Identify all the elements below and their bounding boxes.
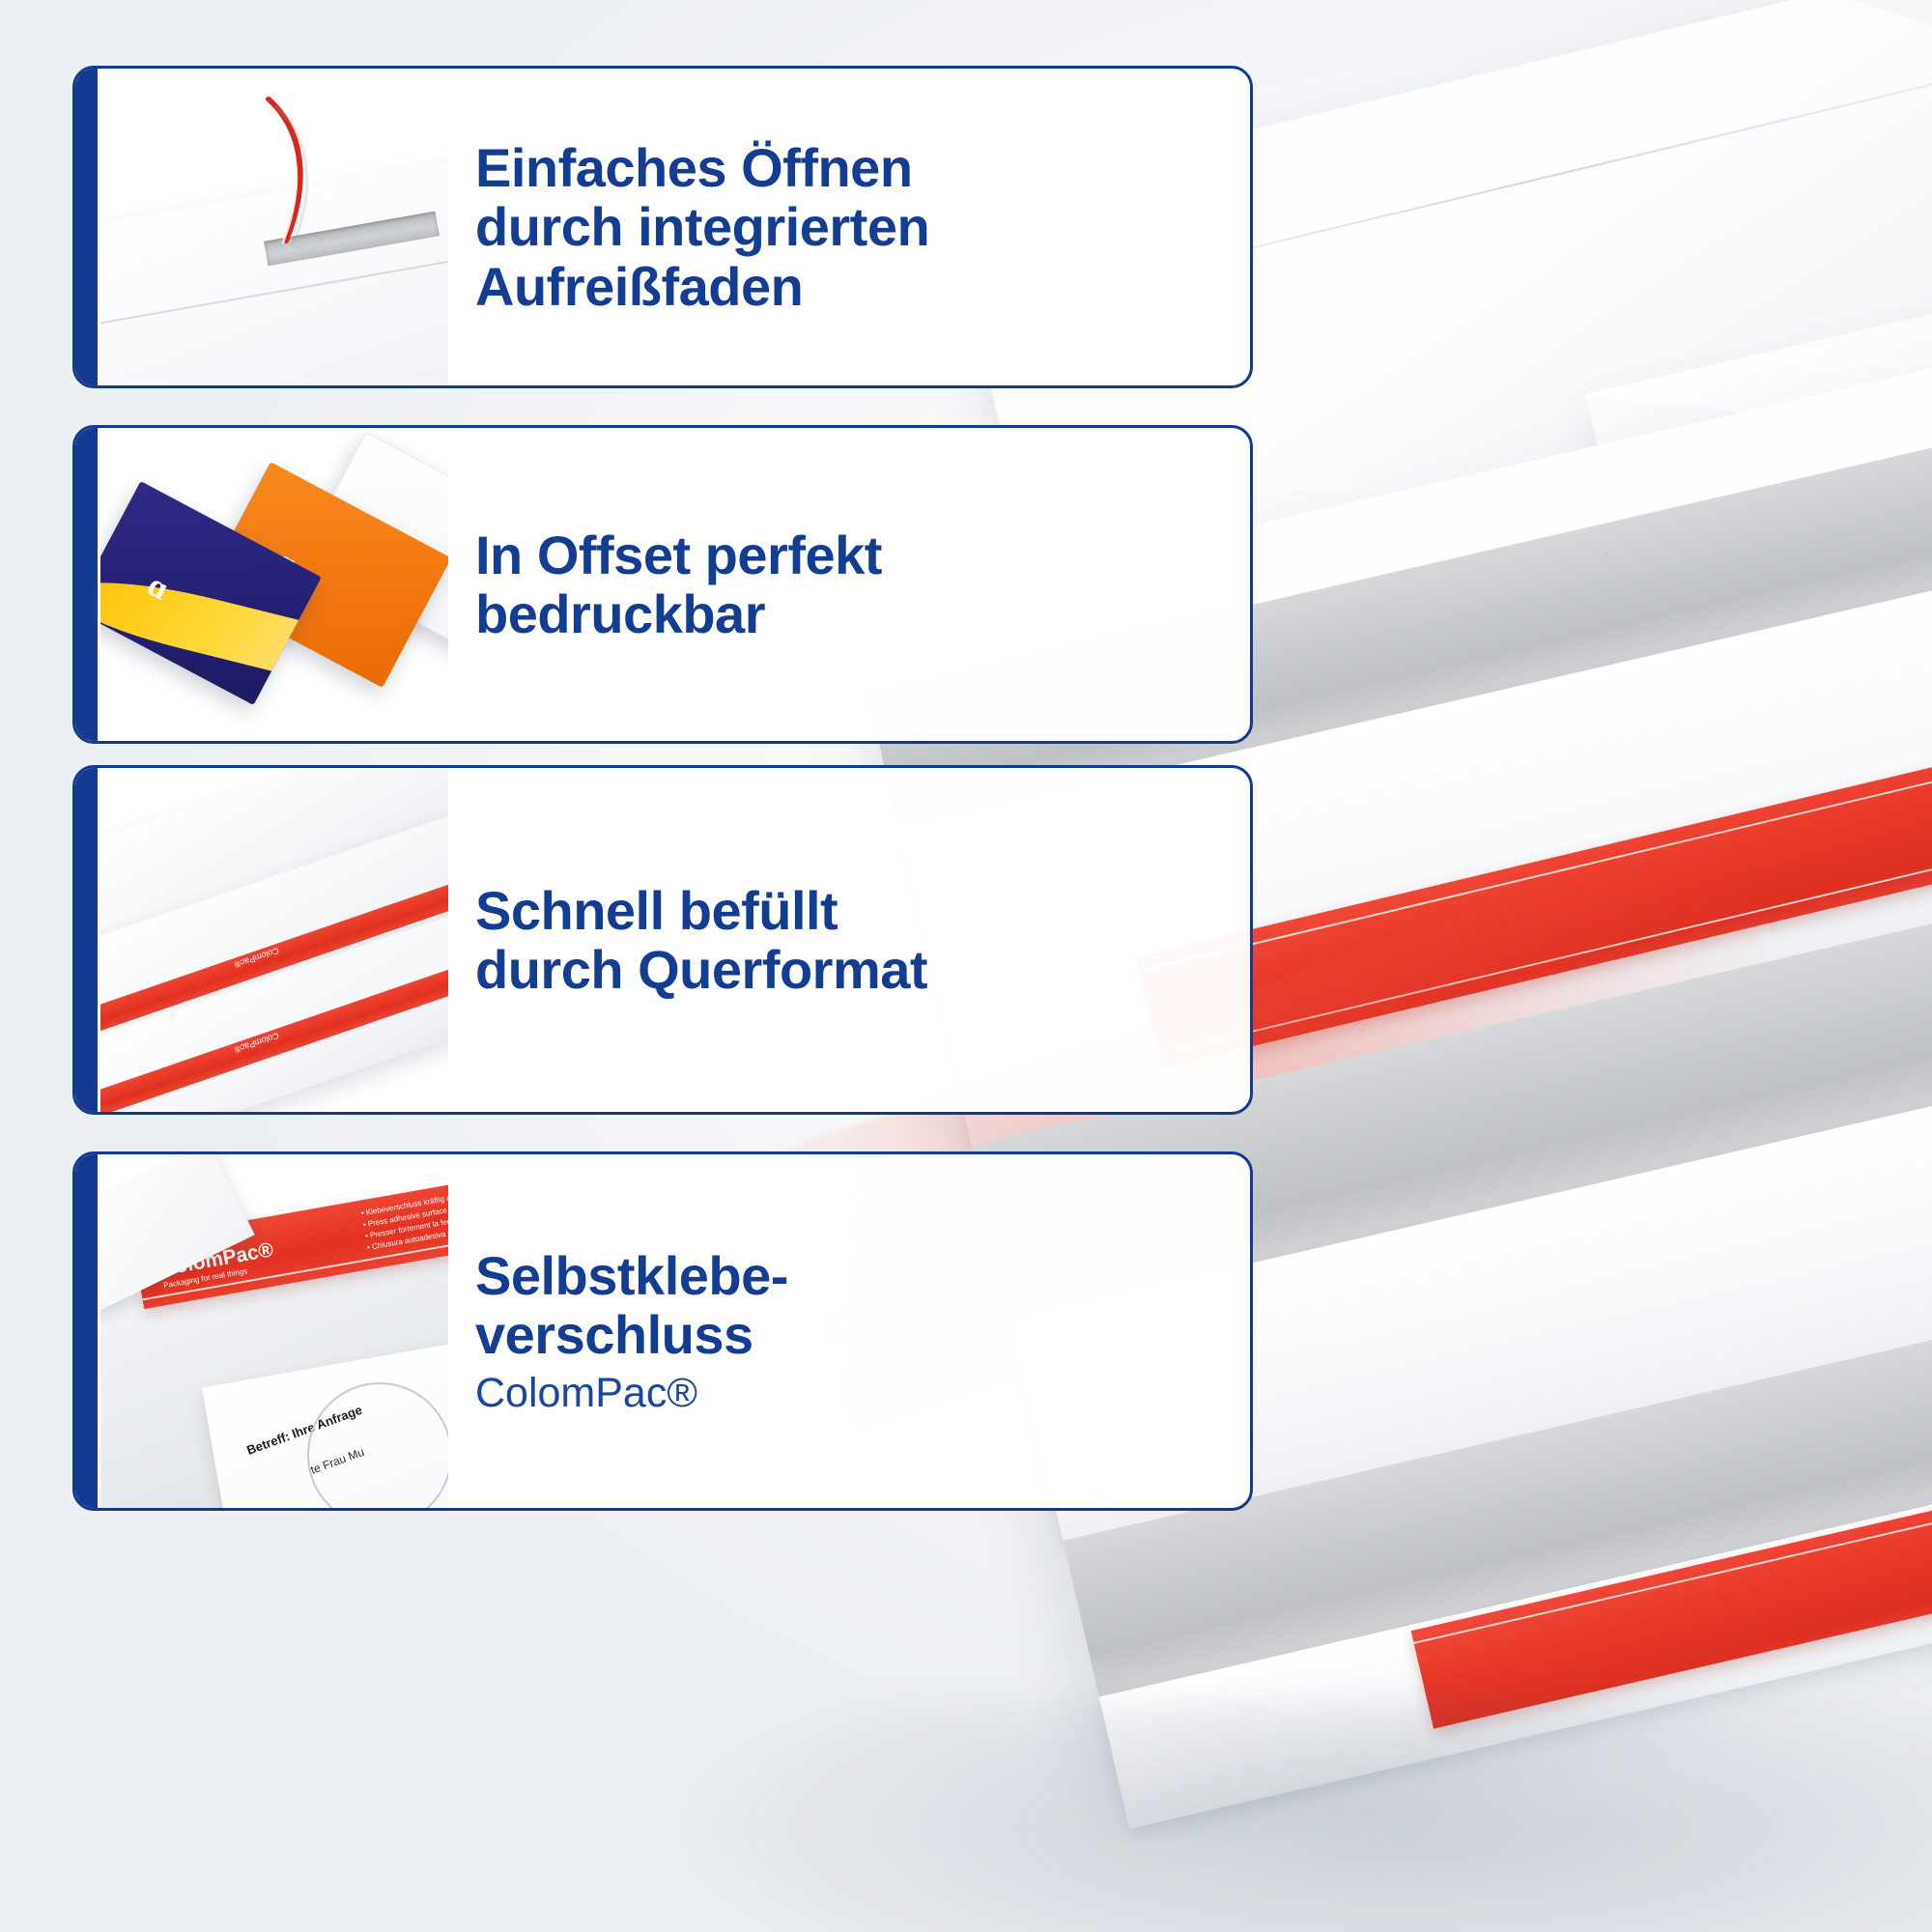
feature-card-text: Schnell befüllt durch Querformat [448, 881, 951, 999]
feature-title: In Offset perfekt bedruckbar [475, 526, 882, 643]
yellow-swoosh-graphic [100, 567, 322, 680]
feature-card-offset-bedruckbar[interactable]: ɑ ɑ In Offset perfekt bedruckbar [72, 425, 1253, 744]
surface-shadow [676, 1700, 1932, 1932]
strip-bullets-block: • Klebeverschluss kräftig andrücken • Pr… [360, 1183, 448, 1254]
stacked-envelopes-photo: ColomPac® ColomPac® [100, 768, 448, 1112]
card-accent-bar [72, 425, 98, 744]
card-accent-bar [72, 66, 98, 388]
feature-card-text: In Offset perfekt bedruckbar [448, 526, 905, 643]
printed-sample-cards-photo: ɑ ɑ [100, 428, 448, 741]
feature-title: Einfaches Öffnen durch integrierten Aufr… [475, 138, 929, 315]
red-tear-thread-icon [257, 96, 315, 241]
feature-card-text: Selbstklebe- verschluss ColomPac® [448, 1246, 811, 1416]
feature-title: Selbstklebe- verschluss [475, 1246, 788, 1364]
feature-card-text: Einfaches Öffnen durch integrierten Aufr… [448, 138, 952, 315]
adhesive-closure-letter-photo: Betreff: Ihre Anfrage te Frau Mu Origina… [100, 1154, 448, 1508]
feature-subtitle: ColomPac® [475, 1370, 788, 1416]
card-accent-bar [72, 765, 98, 1115]
feature-card-schnell-befuellt[interactable]: ColomPac® ColomPac® Schnell befüllt durc… [72, 765, 1253, 1115]
envelope-tear-thread-photo [100, 69, 448, 385]
card-accent-bar [72, 1151, 98, 1511]
feature-title: Schnell befüllt durch Querformat [475, 881, 927, 999]
feature-card-selbstklebeverschluss[interactable]: Betreff: Ihre Anfrage te Frau Mu Origina… [72, 1151, 1253, 1511]
rear-envelope-flap-corner [1822, 0, 1932, 131]
feature-card-einfaches-oeffnen[interactable]: Einfaches Öffnen durch integrierten Aufr… [72, 66, 1253, 388]
